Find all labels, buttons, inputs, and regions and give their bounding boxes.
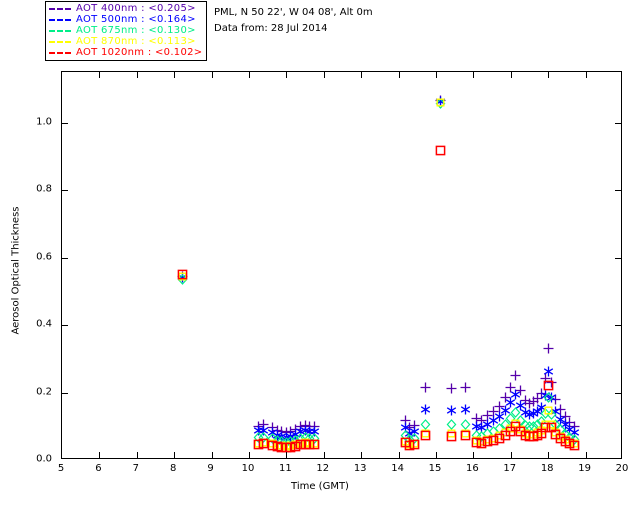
x-tick xyxy=(99,72,100,78)
x-tick-label: 16 xyxy=(466,463,479,474)
data-point xyxy=(543,380,554,391)
data-point xyxy=(253,439,264,450)
y-tick xyxy=(62,258,68,259)
x-tick xyxy=(324,452,325,458)
y-tick xyxy=(615,393,621,394)
legend-entry-label: AOT 400nm : <0.205> xyxy=(76,3,196,14)
data-point xyxy=(400,437,411,448)
y-tick xyxy=(615,190,621,191)
data-point xyxy=(564,438,575,449)
legend-entry-1: AOT 400nm : <0.205> xyxy=(49,3,202,14)
y-tick-label: 0.8 xyxy=(0,184,52,195)
data-point xyxy=(409,439,420,450)
x-tick xyxy=(174,452,175,458)
y-tick xyxy=(615,325,621,326)
data-point xyxy=(482,436,493,447)
x-tick xyxy=(99,452,100,458)
x-tick xyxy=(548,72,549,78)
x-tick xyxy=(212,452,213,458)
x-tick-label: 18 xyxy=(541,463,554,474)
data-point xyxy=(258,438,269,449)
x-tick xyxy=(436,452,437,458)
legend-entry-label: AOT 870nm : <0.113> xyxy=(76,36,196,47)
data-point xyxy=(500,430,511,441)
data-point xyxy=(569,440,580,451)
title-line-1: PML, N 50 22', W 04 08', Alt 0m xyxy=(214,5,373,21)
x-tick-label: 10 xyxy=(242,463,255,474)
x-tick xyxy=(511,452,512,458)
data-point xyxy=(536,428,547,439)
data-point xyxy=(540,422,551,433)
x-tick-label: 15 xyxy=(429,463,442,474)
legend-entry-label: AOT 675nm : <0.130> xyxy=(76,25,196,36)
legend-dash-icon xyxy=(49,30,71,32)
x-tick-label: 5 xyxy=(58,463,64,474)
data-point xyxy=(295,439,306,450)
data-point xyxy=(520,430,531,441)
legend-dash-icon xyxy=(49,52,71,54)
x-tick-label: 13 xyxy=(354,463,367,474)
series-aot-1020nm xyxy=(62,72,621,458)
y-tick xyxy=(62,393,68,394)
legend-entry-2: AOT 500nm : <0.164> xyxy=(49,14,202,25)
data-point xyxy=(494,433,505,444)
data-point xyxy=(550,429,561,440)
x-tick xyxy=(586,72,587,78)
legend-entry-label: AOT 500nm : <0.164> xyxy=(76,14,196,25)
x-tick xyxy=(212,72,213,78)
x-tick-label: 6 xyxy=(95,463,101,474)
legend-dash-icon xyxy=(49,19,71,21)
legend-dash-icon xyxy=(49,41,71,43)
legend-entry-4: AOT 870nm : <0.113> xyxy=(49,36,202,47)
x-tick-label: 14 xyxy=(391,463,404,474)
data-point xyxy=(471,437,482,448)
title-line-2: Data from: 28 Jul 2014 xyxy=(214,21,373,37)
y-tick xyxy=(62,325,68,326)
y-tick xyxy=(615,258,621,259)
x-tick-label: 9 xyxy=(207,463,213,474)
x-tick xyxy=(324,72,325,78)
y-tick xyxy=(62,123,68,124)
data-point xyxy=(546,422,557,433)
aot-timeseries-figure: AOT 400nm : <0.205>AOT 500nm : <0.164>AO… xyxy=(0,0,640,512)
x-tick xyxy=(137,72,138,78)
x-tick xyxy=(249,452,250,458)
x-tick-label: 7 xyxy=(133,463,139,474)
legend-entry-5: AOT 1020nm : <0.102> xyxy=(49,47,202,58)
x-tick xyxy=(436,72,437,78)
x-tick-label: 11 xyxy=(279,463,292,474)
data-point xyxy=(524,431,535,442)
data-point xyxy=(267,440,278,451)
legend-dash-icon xyxy=(49,8,71,10)
y-tick-label: 0.6 xyxy=(0,251,52,262)
x-tick-label: 20 xyxy=(616,463,629,474)
legend-entry-label: AOT 1020nm : <0.102> xyxy=(76,47,202,58)
y-tick-label: 0.4 xyxy=(0,319,52,330)
plot-area xyxy=(62,72,621,458)
plot-frame xyxy=(61,71,622,459)
data-point xyxy=(460,430,471,441)
data-point xyxy=(435,145,446,156)
data-point xyxy=(446,431,457,442)
data-point xyxy=(528,431,539,442)
data-point xyxy=(304,439,315,450)
data-point xyxy=(404,440,415,451)
x-tick xyxy=(361,452,362,458)
x-tick-label: 8 xyxy=(170,463,176,474)
y-tick xyxy=(615,123,621,124)
x-tick xyxy=(473,72,474,78)
x-tick xyxy=(174,72,175,78)
x-tick-label: 17 xyxy=(503,463,516,474)
y-tick xyxy=(62,190,68,191)
x-tick xyxy=(249,72,250,78)
x-axis-title: Time (GMT) xyxy=(0,481,640,492)
data-point xyxy=(555,433,566,444)
x-tick xyxy=(548,452,549,458)
data-point xyxy=(515,426,526,437)
y-tick-label: 0.0 xyxy=(0,454,52,465)
data-point xyxy=(420,430,431,441)
data-point xyxy=(309,439,320,450)
data-point xyxy=(272,441,283,452)
x-tick xyxy=(286,72,287,78)
x-tick xyxy=(137,452,138,458)
data-point xyxy=(300,439,311,450)
data-point xyxy=(560,436,571,447)
x-tick-label: 19 xyxy=(578,463,591,474)
data-point xyxy=(510,421,521,432)
x-tick xyxy=(399,452,400,458)
y-tick-label: 1.0 xyxy=(0,116,52,127)
x-tick xyxy=(586,452,587,458)
x-tick-label: 12 xyxy=(316,463,329,474)
data-point xyxy=(177,269,188,280)
y-tick-label: 0.2 xyxy=(0,386,52,397)
data-point xyxy=(488,435,499,446)
x-tick xyxy=(361,72,362,78)
x-tick xyxy=(286,452,287,458)
data-point xyxy=(476,438,487,449)
x-tick xyxy=(511,72,512,78)
x-tick xyxy=(473,452,474,458)
data-point xyxy=(505,426,516,437)
legend: AOT 400nm : <0.205>AOT 500nm : <0.164>AO… xyxy=(45,1,207,61)
legend-entry-3: AOT 675nm : <0.130> xyxy=(49,25,202,36)
data-point xyxy=(532,430,543,441)
data-point xyxy=(290,441,301,452)
plot-title: PML, N 50 22', W 04 08', Alt 0m Data fro… xyxy=(214,5,373,37)
x-tick xyxy=(399,72,400,78)
